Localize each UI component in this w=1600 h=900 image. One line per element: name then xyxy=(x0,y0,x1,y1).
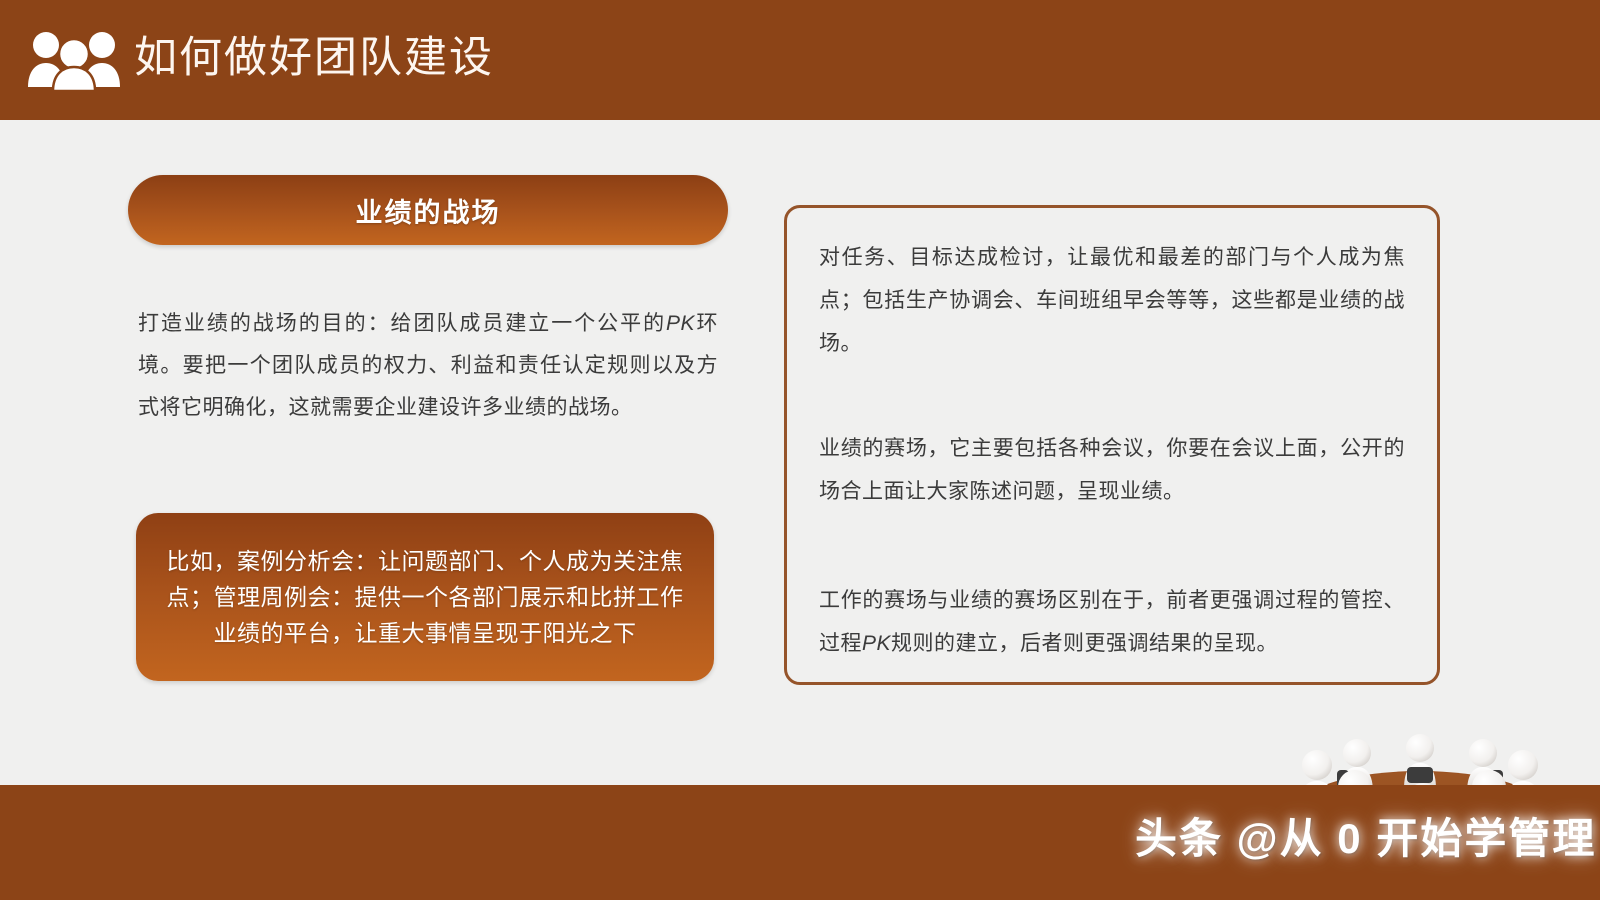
left-column: 业绩的战场 打造业绩的战场的目的：给团队成员建立一个公平的PK环境。要把一个团队… xyxy=(128,175,728,429)
highlight-callout-text: 比如，案例分析会：让问题部门、个人成为关注焦点；管理周例会：提供一个各部门展示和… xyxy=(136,543,714,651)
left-body-paragraph: 打造业绩的战场的目的：给团队成员建立一个公平的PK环境。要把一个团队成员的权力、… xyxy=(138,303,718,429)
page-title: 如何做好团队建设 xyxy=(134,37,494,84)
watermark-text: 头条 @从 0 开始学管理 xyxy=(1135,805,1596,866)
right-paragraph-1: 对任务、目标达成检讨，让最优和最差的部门与个人成为焦点；包括生产协调会、车间班组… xyxy=(819,236,1405,365)
people-group-icon xyxy=(26,29,122,91)
right-paragraph-2: 业绩的赛场，它主要包括各种会议，你要在会议上面，公开的场合上面让大家陈述问题，呈… xyxy=(819,427,1405,513)
slide-header: 如何做好团队建设 xyxy=(0,0,1600,120)
slide-canvas: 如何做好团队建设 业绩的战场 打造业绩的战场的目的：给团队成员建立一个公平的PK… xyxy=(0,0,1600,900)
left-paragraph-pre: 打造业绩的战场的目的：给团队成员建立一个公平的 xyxy=(138,312,666,335)
right-paragraph-3-post: 规则的建立，后者则更强调结果的呈现。 xyxy=(891,632,1278,655)
right-paragraph-3: 工作的赛场与业绩的赛场区别在于，前者更强调过程的管控、过程PK规则的建立，后者则… xyxy=(819,579,1405,665)
left-paragraph-emphasis: PK xyxy=(666,312,695,335)
section-title-pill: 业绩的战场 xyxy=(128,175,728,245)
section-title-label: 业绩的战场 xyxy=(356,191,501,230)
highlight-callout-box: 比如，案例分析会：让问题部门、个人成为关注焦点；管理周例会：提供一个各部门展示和… xyxy=(136,513,714,681)
right-paragraph-3-emphasis: PK xyxy=(862,632,891,655)
right-content-panel: 对任务、目标达成检讨，让最优和最差的部门与个人成为焦点；包括生产协调会、车间班组… xyxy=(784,205,1440,685)
